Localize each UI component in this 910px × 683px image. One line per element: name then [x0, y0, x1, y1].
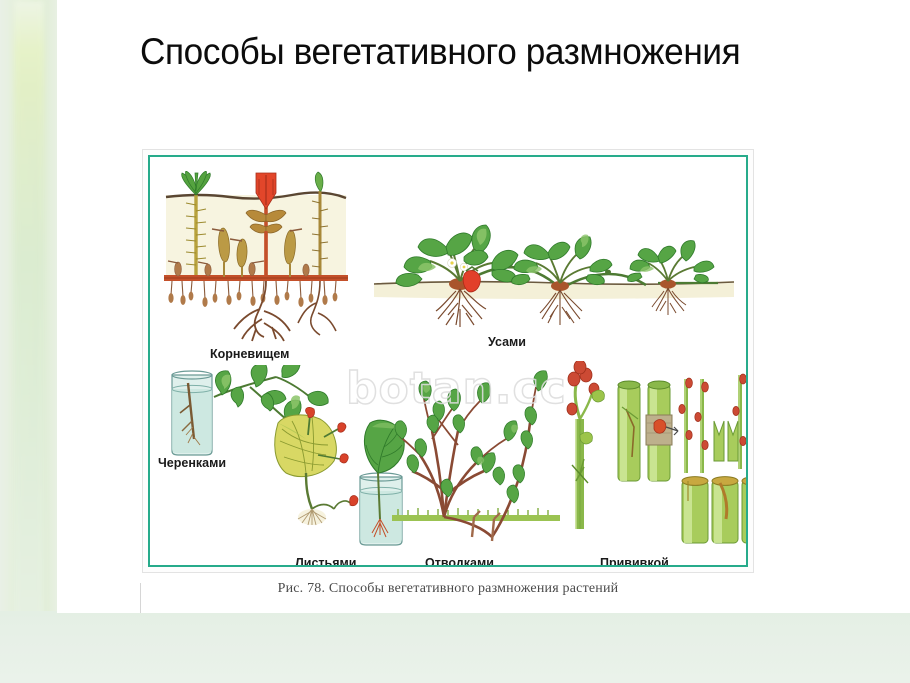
rhizome-diagram: [160, 171, 356, 349]
panel-divider-line: [140, 583, 141, 613]
figure-label-layering: Отводками: [425, 556, 494, 567]
slide-title: Способы вегетативного размножения: [140, 28, 843, 76]
figure-label-cuttings: Черенками: [158, 456, 226, 470]
figure-frame: botan.cc: [148, 155, 748, 567]
background-bottom-gradient-band: [0, 611, 910, 683]
background-left-gradient-band: [0, 0, 58, 683]
figure-label-runners: Усами: [488, 335, 526, 349]
figure-caption: Рис. 78. Способы вегетативного размножен…: [142, 581, 754, 597]
figure-label-leaves: Листьями: [295, 556, 356, 567]
figure-label-grafting: Прививкой: [600, 556, 669, 567]
figure-block: botan.cc: [142, 149, 754, 613]
strawberry-runners-diagram: [368, 179, 740, 339]
layering-shrub-diagram: [388, 369, 564, 553]
figure-label-rhizome: Корневищем: [210, 347, 289, 361]
grafting-stems-diagram: [562, 361, 748, 553]
figure-outer-border: botan.cc: [142, 149, 754, 573]
